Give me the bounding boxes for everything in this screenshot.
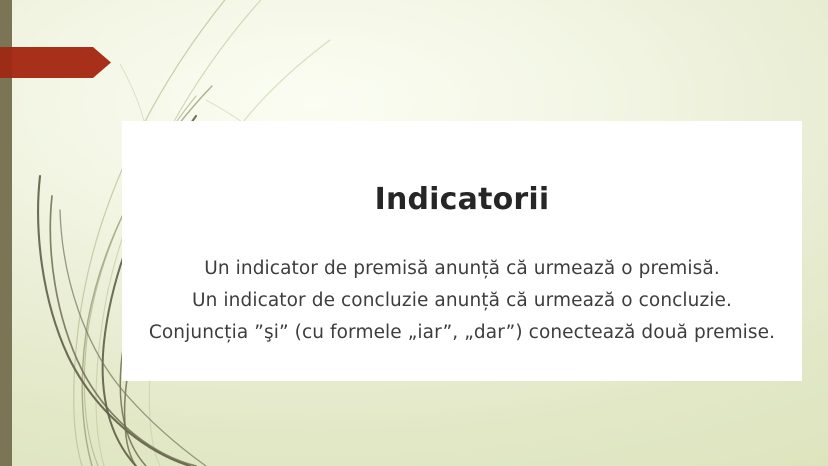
body-line-3: Conjuncția ”şi” (cu formele „iar”, „dar”… [122,317,802,349]
page-title: Indicatorii [122,183,802,216]
body-text-block: Un indicator de premisă anunță că urmeaz… [122,253,802,349]
content-card: Indicatorii Un indicator de premisă anun… [122,121,802,381]
body-line-2: Un indicator de concluzie anunță că urme… [122,285,802,317]
presentation-slide: Indicatorii Un indicator de premisă anun… [0,0,828,466]
body-line-1: Un indicator de premisă anunță că urmeaz… [122,253,802,285]
red-arrow-banner [0,47,111,78]
